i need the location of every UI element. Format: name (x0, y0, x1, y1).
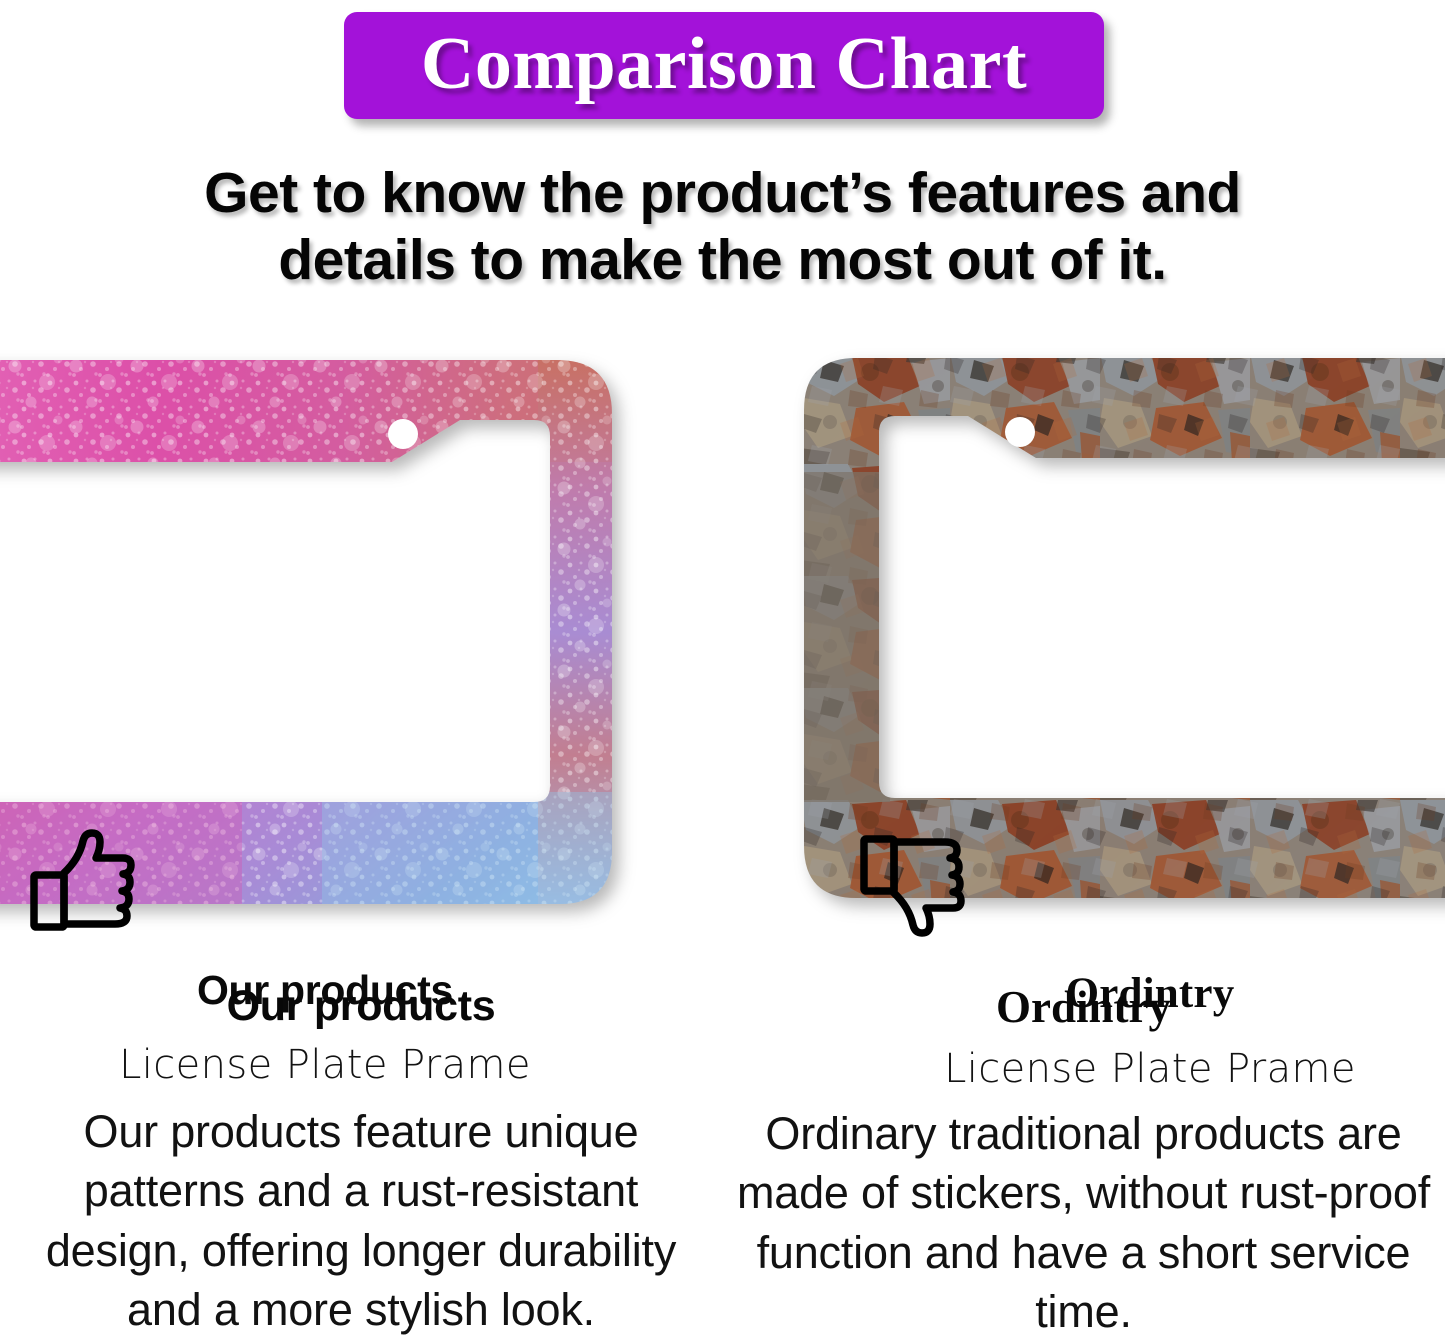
our-product-description-column: Our products Our products feature unique… (0, 985, 722, 1340)
comparison-chart-banner: Comparison Chart (344, 12, 1104, 119)
column-body-text: Our products feature unique patterns and… (0, 1102, 722, 1340)
subheading-line-1: Get to know the product’s features and (0, 160, 1445, 227)
subheading-line-2: details to make the most out of it. (0, 227, 1445, 294)
thumbs-down-icon (860, 830, 1440, 938)
column-body-text: Ordinary traditional products are made o… (722, 1104, 1445, 1342)
column-heading: Our products (0, 985, 722, 1028)
page-title: Comparison Chart (421, 27, 1027, 101)
frames-comparison-row: Our products License Plate Prame Ordintr… (0, 352, 1445, 917)
ordinary-product-plate-frame (800, 352, 1445, 904)
ordinary-product-description-column: Ordintry Ordinary traditional products a… (722, 985, 1445, 1342)
description-columns: Our products Our products feature unique… (0, 985, 1445, 1314)
subheading: Get to know the product’s features and d… (0, 160, 1445, 295)
thumbs-up-icon (30, 828, 620, 936)
mounting-hole (388, 419, 418, 449)
column-heading: Ordintry (722, 985, 1445, 1030)
rusted-frame-graphic (800, 352, 1445, 904)
mounting-hole (1005, 417, 1035, 447)
